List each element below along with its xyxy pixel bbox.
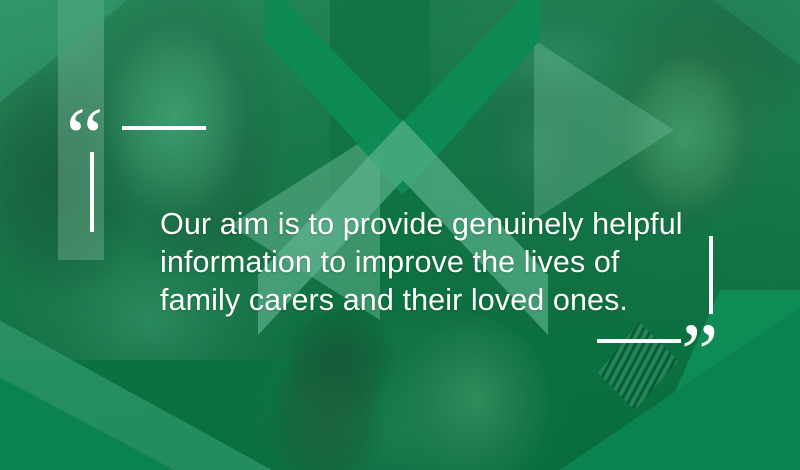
opening-quotation-mark-icon: “: [66, 96, 101, 180]
vertical-rule-left: [90, 152, 94, 232]
quote-line-2: information to improve the lives of: [160, 243, 760, 281]
closing-quotation-mark-icon: ”: [681, 312, 716, 396]
quote-text: Our aim is to provide genuinely helpful …: [160, 205, 760, 319]
horizontal-rule-top: [122, 126, 206, 130]
quote-line-1: Our aim is to provide genuinely helpful: [160, 205, 760, 243]
quote-banner: “ ” Our aim is to provide genuinely help…: [0, 0, 800, 470]
quote-line-3: family carers and their loved ones.: [160, 281, 760, 319]
horizontal-rule-bottom: [597, 339, 681, 343]
